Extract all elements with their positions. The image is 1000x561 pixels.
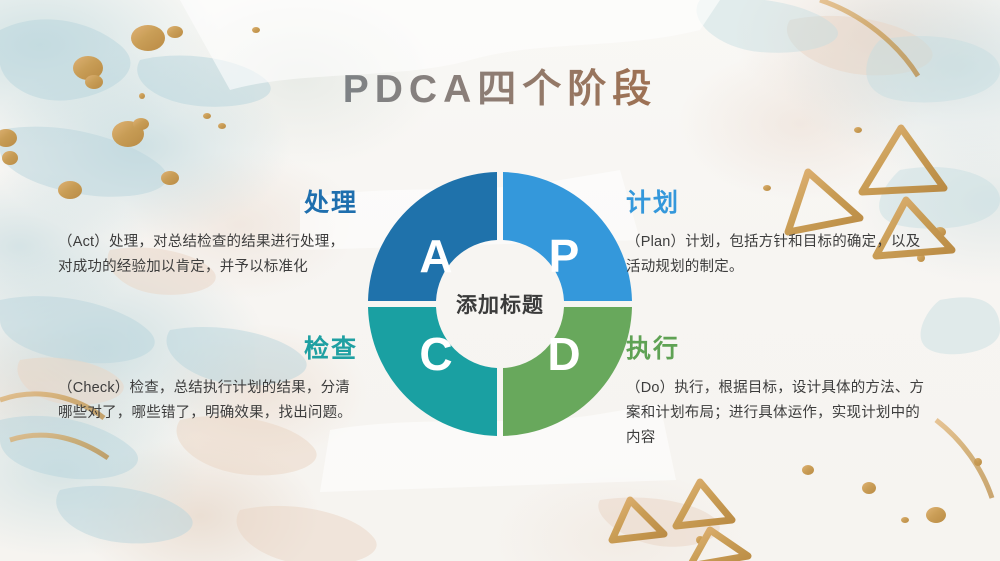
donut-letter-check: C	[419, 328, 452, 380]
block-check-body: （Check）检查，总结执行计划的结果，分清哪些对了，哪些错了，明确效果，找出问…	[58, 376, 358, 427]
block-do: 执行 （Do）执行，根据目标，设计具体的方法、方案和计划布局；进行具体运作，实现…	[626, 336, 926, 452]
block-act: 处理 （Act）处理，对总结检查的结果进行处理，对成功的经验加以肯定，并予以标准…	[58, 190, 358, 280]
block-plan: 计划 （Plan）计划，包括方针和目标的确定，以及活动规划的制定。	[626, 190, 926, 280]
donut-letter-do: D	[547, 328, 580, 380]
block-do-body: （Do）执行，根据目标，设计具体的方法、方案和计划布局；进行具体运作，实现计划中…	[626, 376, 926, 452]
block-check-heading: 检查	[58, 336, 358, 364]
page-title: PDCA四个阶段	[0, 58, 1000, 114]
block-act-heading: 处理	[58, 190, 358, 218]
pdca-donut: P D C A 添加标题	[364, 168, 636, 440]
pdca-slide: PDCA四个阶段 P D C A 添加标题 处理 （Act）处理，对总结检查的结…	[0, 0, 1000, 561]
donut-letter-act: A	[419, 230, 452, 282]
donut-letter-plan: P	[549, 230, 580, 282]
block-check: 检查 （Check）检查，总结执行计划的结果，分清哪些对了，哪些错了，明确效果，…	[58, 336, 358, 426]
block-plan-heading: 计划	[626, 190, 926, 218]
block-plan-body: （Plan）计划，包括方针和目标的确定，以及活动规划的制定。	[626, 230, 926, 281]
block-do-heading: 执行	[626, 336, 926, 364]
donut-center-label: 添加标题	[364, 289, 636, 319]
block-act-body: （Act）处理，对总结检查的结果进行处理，对成功的经验加以肯定，并予以标准化	[58, 230, 358, 281]
